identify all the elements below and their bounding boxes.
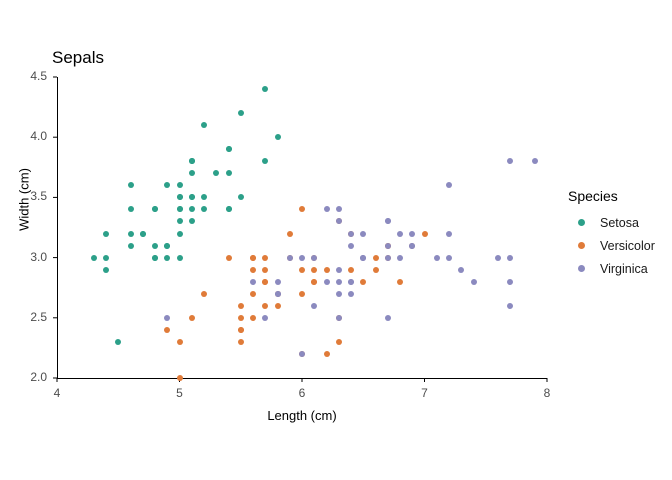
data-point — [287, 231, 293, 237]
data-point — [262, 279, 268, 285]
data-point — [164, 255, 170, 261]
data-point — [336, 279, 342, 285]
data-point — [446, 255, 452, 261]
data-point — [128, 206, 134, 212]
data-point — [446, 231, 452, 237]
x-axis-title: Length (cm) — [0, 408, 604, 423]
data-point — [287, 255, 293, 261]
legend-title: Species — [568, 188, 618, 204]
data-point — [507, 303, 513, 309]
data-point — [397, 231, 403, 237]
data-point — [471, 279, 477, 285]
data-point — [348, 279, 354, 285]
data-point — [299, 267, 305, 273]
data-point — [311, 267, 317, 273]
data-point — [250, 255, 256, 261]
data-point — [226, 206, 232, 212]
y-tick-label: 4.5 — [17, 69, 47, 83]
data-point — [250, 291, 256, 297]
data-point — [385, 255, 391, 261]
data-point — [152, 243, 158, 249]
data-point — [177, 255, 183, 261]
data-point — [275, 303, 281, 309]
data-point — [275, 134, 281, 140]
data-point — [409, 231, 415, 237]
data-point — [177, 194, 183, 200]
x-tick-label: 4 — [42, 386, 72, 400]
data-point — [336, 291, 342, 297]
data-point — [385, 315, 391, 321]
data-point — [128, 243, 134, 249]
data-point — [238, 315, 244, 321]
data-point — [103, 255, 109, 261]
data-point — [226, 170, 232, 176]
data-point — [373, 267, 379, 273]
data-point — [324, 206, 330, 212]
data-point — [409, 243, 415, 249]
data-point — [262, 303, 268, 309]
legend-swatch-icon — [578, 265, 585, 272]
x-tick-label: 5 — [165, 386, 195, 400]
data-point — [103, 267, 109, 273]
data-point — [140, 231, 146, 237]
data-point — [324, 279, 330, 285]
data-point — [373, 255, 379, 261]
x-tick-label: 8 — [532, 386, 562, 400]
data-point — [397, 279, 403, 285]
data-point — [226, 146, 232, 152]
data-point — [532, 158, 538, 164]
data-point — [177, 182, 183, 188]
data-point — [299, 291, 305, 297]
data-point — [128, 231, 134, 237]
data-point — [360, 255, 366, 261]
data-point — [507, 255, 513, 261]
data-point — [348, 267, 354, 273]
data-point — [348, 243, 354, 249]
data-point — [226, 255, 232, 261]
data-point — [238, 339, 244, 345]
scatter-plot-figure: Sepals 2.02.53.03.54.04.5 45678 Length (… — [0, 0, 672, 480]
data-point — [189, 315, 195, 321]
data-point — [348, 231, 354, 237]
data-point — [299, 255, 305, 261]
data-point — [275, 291, 281, 297]
data-point — [177, 231, 183, 237]
data-point — [177, 375, 183, 381]
data-point — [385, 243, 391, 249]
data-point — [397, 255, 403, 261]
data-point — [311, 303, 317, 309]
data-point — [238, 110, 244, 116]
data-point — [324, 267, 330, 273]
data-point — [299, 351, 305, 357]
data-point — [250, 315, 256, 321]
y-axis-title: Width (cm) — [17, 120, 32, 280]
data-point — [250, 267, 256, 273]
data-point — [238, 303, 244, 309]
data-point — [103, 231, 109, 237]
data-point — [311, 279, 317, 285]
data-point — [336, 339, 342, 345]
data-point — [434, 255, 440, 261]
data-point — [238, 327, 244, 333]
x-tick-label: 7 — [410, 386, 440, 400]
legend-item-label: Virginica — [600, 262, 648, 276]
data-point — [262, 267, 268, 273]
data-point — [348, 291, 354, 297]
legend-item-label: Setosa — [600, 216, 639, 230]
legend-swatch-icon — [578, 242, 585, 249]
data-point — [201, 291, 207, 297]
data-point — [507, 279, 513, 285]
data-point — [262, 255, 268, 261]
y-tick-label: 2.5 — [17, 310, 47, 324]
data-point — [152, 255, 158, 261]
legend-swatch-icon — [578, 219, 585, 226]
data-point — [189, 158, 195, 164]
data-point — [360, 279, 366, 285]
data-point — [324, 351, 330, 357]
data-point — [250, 279, 256, 285]
y-tick-label: 2.0 — [17, 370, 47, 384]
data-point — [177, 206, 183, 212]
data-point — [360, 231, 366, 237]
x-tick-label: 6 — [287, 386, 317, 400]
data-point — [336, 267, 342, 273]
data-point — [495, 255, 501, 261]
data-point — [311, 255, 317, 261]
data-point — [422, 231, 428, 237]
legend-item-label: Versicolor — [600, 239, 655, 253]
data-point — [128, 182, 134, 188]
data-point — [164, 243, 170, 249]
data-point — [177, 339, 183, 345]
data-point — [458, 267, 464, 273]
data-point — [91, 255, 97, 261]
data-point — [336, 315, 342, 321]
data-point — [275, 279, 281, 285]
